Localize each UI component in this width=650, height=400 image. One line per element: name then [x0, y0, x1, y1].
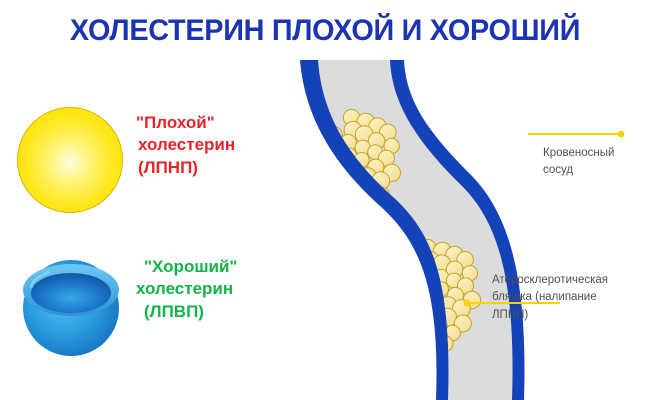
annotation-plaque: Атеросклеротическая бляшка (налипание ЛП…	[492, 272, 608, 324]
plaque-particle	[319, 179, 336, 196]
plaque-particle	[346, 215, 361, 230]
hdl-particle	[365, 350, 390, 379]
plaque-particle	[401, 336, 418, 353]
plaque-particle	[413, 326, 431, 344]
ldl-particle	[367, 312, 387, 332]
plaque-particle	[307, 174, 323, 190]
annotation-blood-vessel: Кровеносный сосуд	[543, 145, 614, 180]
plaque-particle	[318, 204, 335, 221]
plaque-particle	[409, 287, 424, 302]
annotation-vessel-line2: сосуд	[543, 162, 614, 179]
plaque-particle	[343, 201, 360, 218]
plaque-particle	[414, 341, 430, 357]
plaque-particle	[388, 307, 404, 323]
plaque-particle	[320, 165, 335, 180]
plaque-particle	[414, 302, 430, 318]
plaque-particle	[398, 323, 415, 340]
hdl-particle	[369, 254, 394, 283]
plaque-particle	[316, 191, 333, 208]
plaque-particle	[400, 310, 417, 327]
plaque-particle	[349, 191, 366, 208]
plaque-particle	[314, 150, 329, 165]
plaque-particle	[393, 283, 408, 298]
plaque-particle	[400, 297, 415, 312]
plaque-particle	[330, 195, 348, 213]
annotation-vessel-line1: Кровеносный	[543, 145, 614, 162]
plaque-particle	[307, 199, 325, 217]
annotation-plaque-line1: Атеросклеротическая	[492, 272, 608, 289]
hdl-particle	[460, 128, 485, 157]
plaque-particle	[331, 211, 347, 227]
vessel-leader-line	[528, 131, 624, 138]
plaque-particle	[333, 171, 349, 187]
plaque-particle	[390, 331, 408, 349]
hdl-particle	[429, 81, 454, 110]
plaque-particle	[354, 207, 370, 223]
plaque-particle	[407, 274, 424, 291]
plaque-particle	[402, 258, 420, 276]
blood-vessel-diagram	[0, 0, 650, 400]
plaque-particle	[334, 183, 352, 201]
infographic-canvas: ХОЛЕСТЕРИН ПЛОХОЙ И ХОРОШИЙ	[0, 0, 650, 400]
ldl-particle	[503, 60, 523, 80]
plaque-particle	[416, 314, 434, 332]
annotation-plaque-line3: ЛПНП)	[492, 307, 608, 324]
annotation-plaque-line2: бляшка (налипание	[492, 289, 608, 306]
